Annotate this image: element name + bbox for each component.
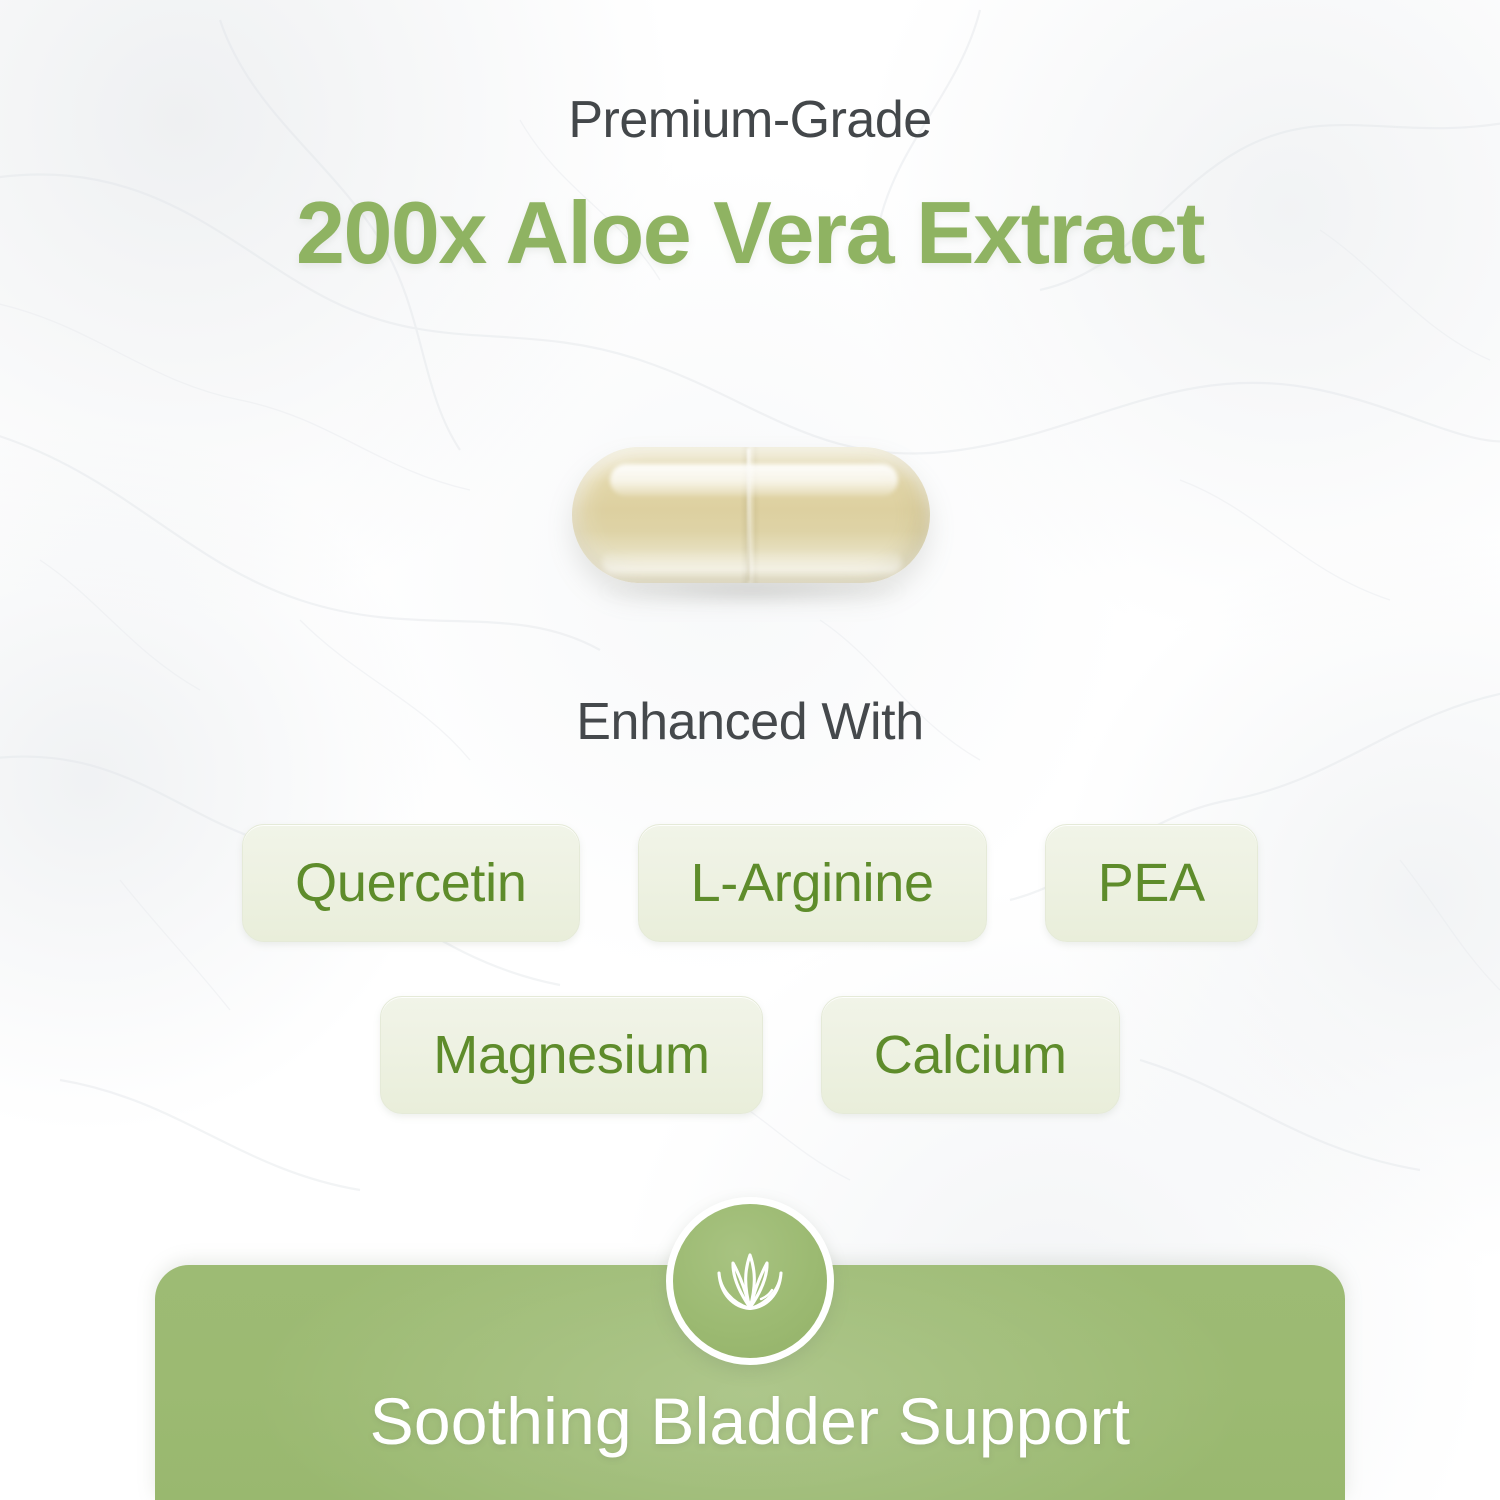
ingredient-row-2: Magnesium Calcium	[0, 996, 1500, 1114]
capsule-highlight	[610, 464, 898, 496]
ingredient-label: Quercetin	[295, 852, 526, 914]
header: Premium-Grade 200x Aloe Vera Extract	[0, 0, 1500, 280]
eyebrow-text: Premium-Grade	[0, 92, 1500, 149]
ingredient-pill: L-Arginine	[638, 824, 987, 942]
ingredient-row-1: Quercetin L-Arginine PEA	[0, 824, 1500, 942]
ingredient-pill: PEA	[1045, 824, 1258, 942]
ingredient-pill: Magnesium	[380, 996, 762, 1114]
ingredient-label: Magnesium	[433, 1024, 709, 1086]
ingredient-label: L-Arginine	[691, 852, 934, 914]
product-image-area	[0, 430, 1500, 620]
ingredient-label: PEA	[1098, 852, 1205, 914]
ingredient-pill: Calcium	[821, 996, 1120, 1114]
aloe-plant-icon	[698, 1229, 802, 1333]
aloe-badge	[666, 1197, 834, 1365]
ingredient-label: Calcium	[874, 1024, 1067, 1086]
page-title: 200x Aloe Vera Extract	[0, 187, 1500, 279]
banner-headline: Soothing Bladder Support	[155, 1383, 1345, 1459]
section-title: Enhanced With	[0, 692, 1500, 752]
capsule-image	[572, 447, 930, 583]
capsule-seam	[747, 449, 750, 581]
infographic-canvas: Premium-Grade 200x Aloe Vera Extract Enh…	[0, 0, 1500, 1500]
capsule-lower-highlight	[602, 551, 902, 573]
ingredient-pill: Quercetin	[242, 824, 579, 942]
